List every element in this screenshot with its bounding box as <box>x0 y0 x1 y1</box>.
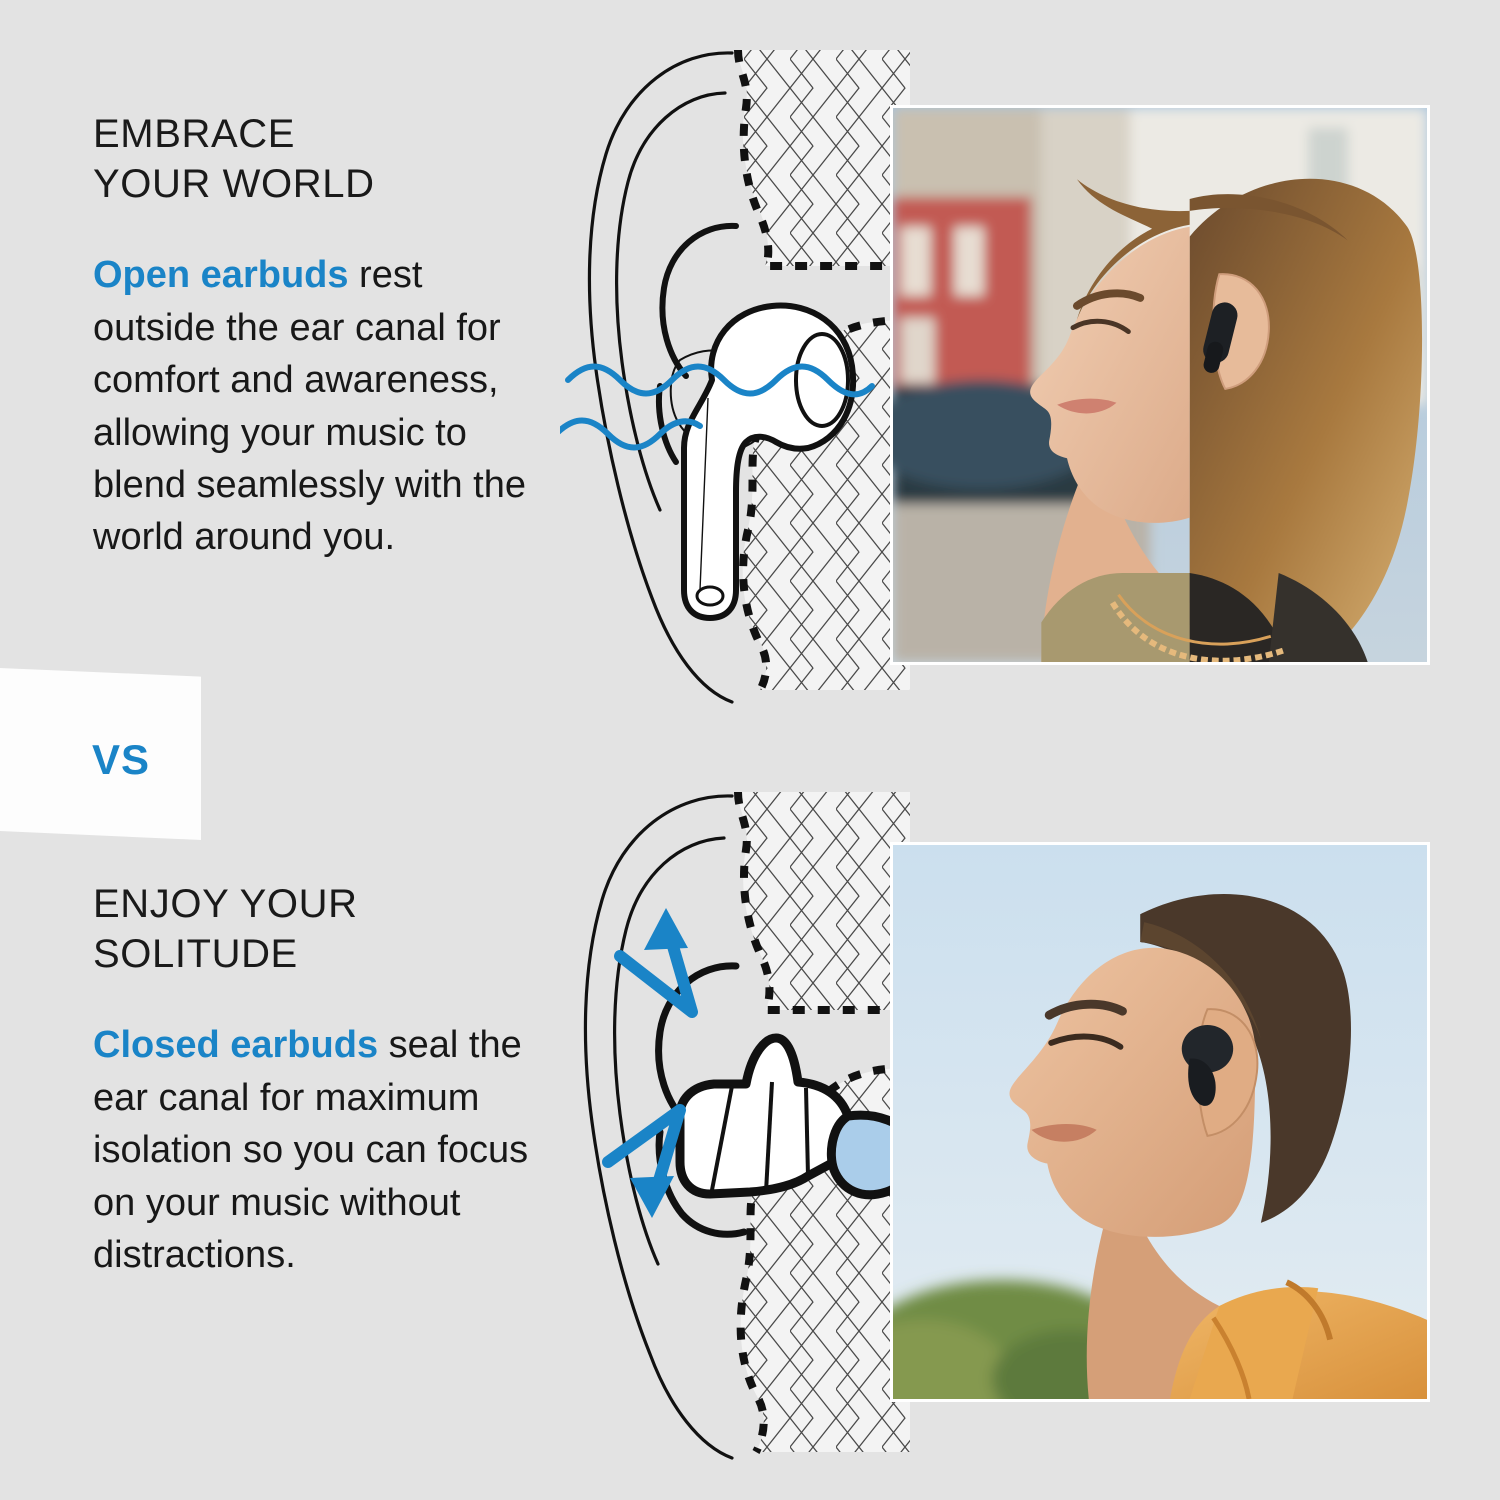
open-earbud-diagram <box>560 30 910 720</box>
closed-body-text: Closed earbuds seal the ear canal for ma… <box>93 1019 543 1281</box>
open-text-column: EMBRACE YOUR WORLD Open earbuds rest out… <box>93 110 543 564</box>
open-lead-phrase: Open earbuds <box>93 254 349 296</box>
open-earbud-lifestyle-photo <box>890 105 1430 665</box>
comparison-panel-closed: ENJOY YOUR SOLITUDE Closed earbuds seal … <box>0 780 1500 1470</box>
closed-text-column: ENJOY YOUR SOLITUDE Closed earbuds seal … <box>93 880 543 1281</box>
open-body-rest: rest outside the ear canal for comfort a… <box>93 254 526 558</box>
earbud-mic-port <box>697 587 723 605</box>
open-body-text: Open earbuds rest outside the ear canal … <box>93 249 543 564</box>
closed-earbud-shape <box>680 1038 910 1195</box>
closed-earbud-diagram <box>560 780 910 1470</box>
closed-eyebrow-heading: ENJOY YOUR SOLITUDE <box>93 880 543 979</box>
open-eyebrow-heading: EMBRACE YOUR WORLD <box>93 110 543 209</box>
closed-earbud-lifestyle-photo <box>890 842 1430 1402</box>
earbud-driver-nozzle <box>796 334 848 426</box>
closed-lead-phrase: Closed earbuds <box>93 1024 378 1066</box>
vs-label: VS <box>92 736 150 784</box>
comparison-panel-open: EMBRACE YOUR WORLD Open earbuds rest out… <box>0 30 1500 720</box>
